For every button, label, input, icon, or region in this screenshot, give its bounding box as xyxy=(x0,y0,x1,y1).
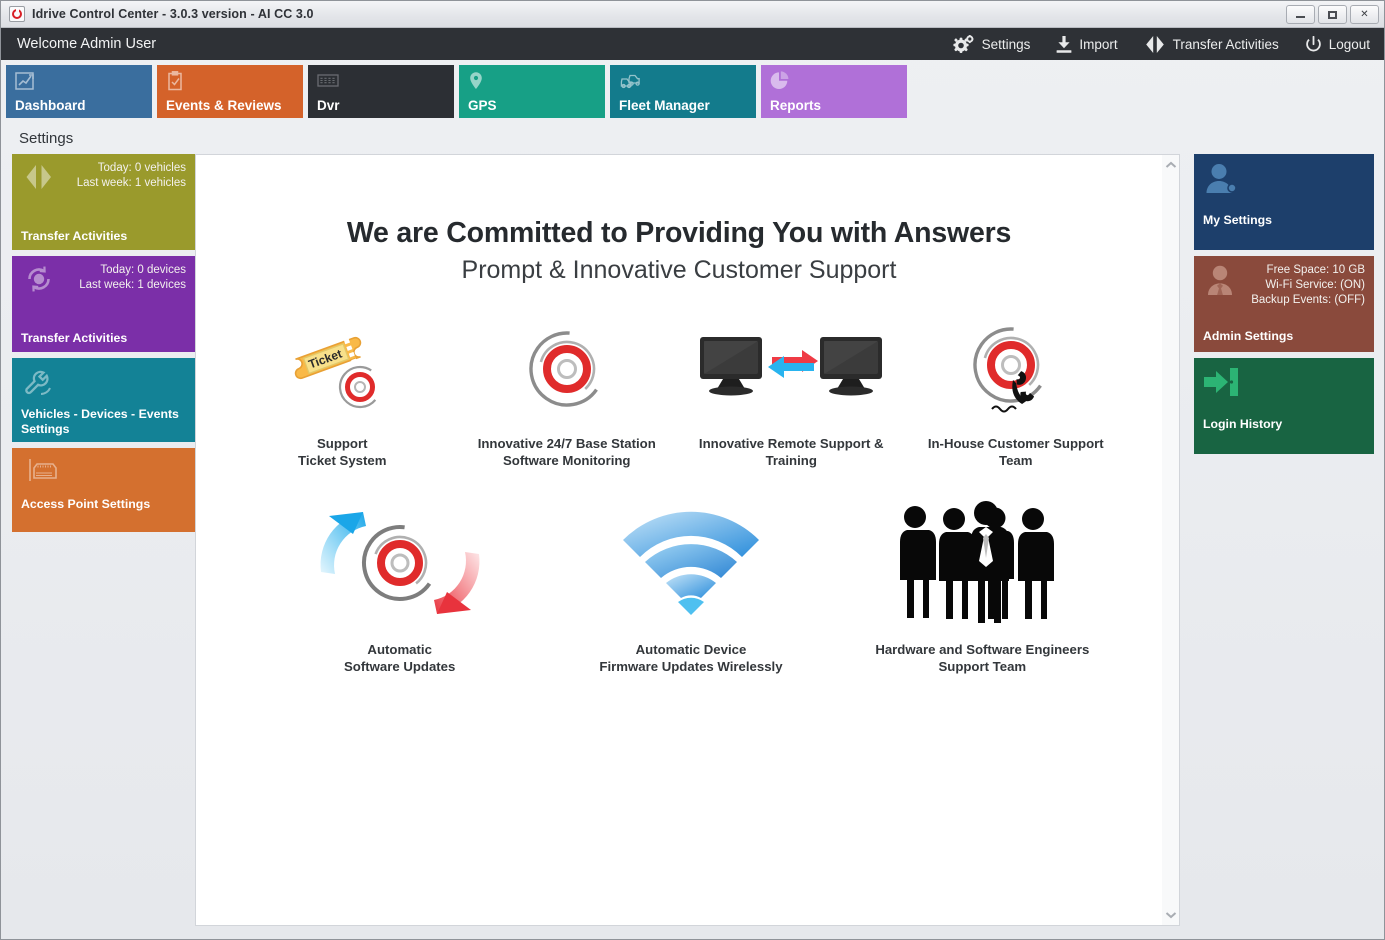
sidebar-tile-my-settings[interactable]: My Settings xyxy=(1194,154,1374,250)
right-sidebar: My Settings Free Space: 10 GB Wi-Fi Serv… xyxy=(1194,154,1374,926)
features-row-2: Automatic Software Updates xyxy=(196,469,1162,675)
support-ticket-icon: Ticket xyxy=(288,321,396,417)
gears-icon xyxy=(953,35,975,53)
feature-caption: In-House Customer Support Team xyxy=(928,435,1104,469)
download-icon xyxy=(1056,36,1072,53)
sidebar-tile-transfer-activities-devices[interactable]: Today: 0 devices Last week: 1 devices Tr… xyxy=(12,256,195,352)
feature-caption: Hardware and Software Engineers Support … xyxy=(875,641,1089,675)
title-bar: Idrive Control Center - 3.0.3 version - … xyxy=(1,1,1384,28)
remote-monitors-icon xyxy=(696,321,886,417)
header-transfer-label: Transfer Activities xyxy=(1173,37,1279,52)
nav-tab-dvr-label: Dvr xyxy=(317,98,340,113)
feature-caption: Automatic Device Firmware Updates Wirele… xyxy=(599,641,782,675)
chevron-down-icon[interactable] xyxy=(1165,911,1177,919)
sidebar-tile-vehicles-devices-events-settings[interactable]: Vehicles - Devices - Events Settings xyxy=(12,358,195,442)
header-settings-button[interactable]: Settings xyxy=(953,35,1031,53)
header-import-button[interactable]: Import xyxy=(1056,36,1117,53)
header-settings-label: Settings xyxy=(982,37,1031,52)
sidebar-tile-title: Vehicles - Devices - Events Settings xyxy=(21,407,186,437)
header-actions: Settings Import xyxy=(953,35,1370,53)
window-title: Idrive Control Center - 3.0.3 version - … xyxy=(32,7,314,21)
main-content-area: We are Committed to Providing You with A… xyxy=(195,154,1180,926)
team-silhouette-icon xyxy=(882,499,1082,627)
welcome-message: Welcome Admin User xyxy=(17,36,156,52)
nav-tab-dvr[interactable]: Dvr xyxy=(308,65,454,118)
feature-remote-support-training: Innovative Remote Support & Training xyxy=(679,321,904,469)
feature-in-house-customer-support: In-House Customer Support Team xyxy=(904,321,1129,469)
nav-tab-dashboard-label: Dashboard xyxy=(15,98,86,113)
target-phone-icon xyxy=(964,321,1068,417)
chart-trend-icon xyxy=(15,78,37,95)
window-controls: ✕ xyxy=(1286,5,1379,24)
features-row-1: Ticket Support Ticket System xyxy=(196,285,1162,469)
header-transfer-activities-button[interactable]: Transfer Activities xyxy=(1144,36,1279,53)
wrench-icon xyxy=(22,366,58,403)
vertical-scrollbar[interactable] xyxy=(1162,154,1180,926)
maximize-button[interactable] xyxy=(1318,5,1347,24)
feature-support-ticket-system: Ticket Support Ticket System xyxy=(230,321,455,469)
map-pin-icon xyxy=(468,80,488,97)
header-import-label: Import xyxy=(1079,37,1117,52)
sidebar-tile-title: Transfer Activities xyxy=(21,331,186,346)
left-sidebar: Today: 0 vehicles Last week: 1 vehicles … xyxy=(12,154,195,926)
nav-tab-reports-label: Reports xyxy=(770,98,821,113)
top-header: Welcome Admin User xyxy=(1,28,1384,60)
wifi-signal-icon xyxy=(615,499,767,627)
sidebar-tile-login-history[interactable]: Login History xyxy=(1194,358,1374,454)
close-button[interactable]: ✕ xyxy=(1350,5,1379,24)
router-icon xyxy=(22,456,66,493)
page-title: We are Committed to Providing You with A… xyxy=(196,217,1162,250)
sidebar-tile-title: Access Point Settings xyxy=(21,497,186,512)
nav-tab-gps[interactable]: GPS xyxy=(459,65,605,118)
sidebar-tile-access-point-settings[interactable]: Access Point Settings xyxy=(12,448,195,532)
main-nav: Dashboard Events & Reviews Dvr xyxy=(1,60,1384,123)
refresh-target-icon xyxy=(307,499,493,627)
login-door-icon xyxy=(1204,366,1238,403)
sidebar-tile-title: Login History xyxy=(1203,417,1365,432)
application-window: Idrive Control Center - 3.0.3 version - … xyxy=(0,0,1385,940)
nav-tab-events-reviews[interactable]: Events & Reviews xyxy=(157,65,303,118)
feature-automatic-software-updates: Automatic Software Updates xyxy=(254,499,545,675)
header-logout-label: Logout xyxy=(1329,37,1370,52)
clipboard-check-icon xyxy=(166,78,188,95)
target-monitoring-icon xyxy=(520,321,614,417)
user-icon xyxy=(1204,162,1238,201)
nav-tab-gps-label: GPS xyxy=(468,98,497,113)
sidebar-tile-transfer-activities-vehicles[interactable]: Today: 0 vehicles Last week: 1 vehicles … xyxy=(12,154,195,250)
pie-chart-icon xyxy=(770,78,792,95)
page-body: Today: 0 vehicles Last week: 1 vehicles … xyxy=(1,154,1384,926)
nav-tab-fleet-manager[interactable]: Fleet Manager xyxy=(610,65,756,118)
sync-device-icon xyxy=(22,264,56,299)
admin-user-icon xyxy=(1204,264,1238,303)
feature-caption: Automatic Software Updates xyxy=(344,641,455,675)
feature-caption: Innovative Remote Support & Training xyxy=(699,435,884,469)
dvr-icon xyxy=(317,78,341,95)
sidebar-tile-title: Admin Settings xyxy=(1203,329,1365,344)
sidebar-tile-admin-settings[interactable]: Free Space: 10 GB Wi-Fi Service: (ON) Ba… xyxy=(1194,256,1374,352)
nav-tab-reports[interactable]: Reports xyxy=(761,65,907,118)
transfer-arrows-icon xyxy=(1144,36,1166,53)
app-icon xyxy=(9,6,25,22)
feature-caption: Support Ticket System xyxy=(298,435,386,469)
breadcrumb: Settings xyxy=(1,123,1384,154)
transfer-arrows-icon xyxy=(22,162,56,197)
nav-tab-fleet-manager-label: Fleet Manager xyxy=(619,98,710,113)
feature-base-station-monitoring: Innovative 24/7 Base Station Software Mo… xyxy=(455,321,680,469)
nav-tab-events-reviews-label: Events & Reviews xyxy=(166,98,282,113)
power-icon xyxy=(1305,36,1322,53)
header-logout-button[interactable]: Logout xyxy=(1305,36,1370,53)
breadcrumb-label: Settings xyxy=(19,130,73,147)
sidebar-tile-title: My Settings xyxy=(1203,213,1365,228)
feature-engineers-support-team: Hardware and Software Engineers Support … xyxy=(837,499,1128,675)
feature-caption: Innovative 24/7 Base Station Software Mo… xyxy=(478,435,656,469)
feature-device-firmware-updates: Automatic Device Firmware Updates Wirele… xyxy=(545,499,836,675)
nav-tab-dashboard[interactable]: Dashboard xyxy=(6,65,152,118)
vehicles-icon xyxy=(619,78,645,95)
minimize-button[interactable] xyxy=(1286,5,1315,24)
sidebar-tile-title: Transfer Activities xyxy=(21,229,186,244)
chevron-up-icon[interactable] xyxy=(1165,161,1177,169)
content-panel: We are Committed to Providing You with A… xyxy=(195,154,1162,926)
hero-section: We are Committed to Providing You with A… xyxy=(196,155,1162,285)
page-subtitle: Prompt & Innovative Customer Support xyxy=(196,256,1162,285)
